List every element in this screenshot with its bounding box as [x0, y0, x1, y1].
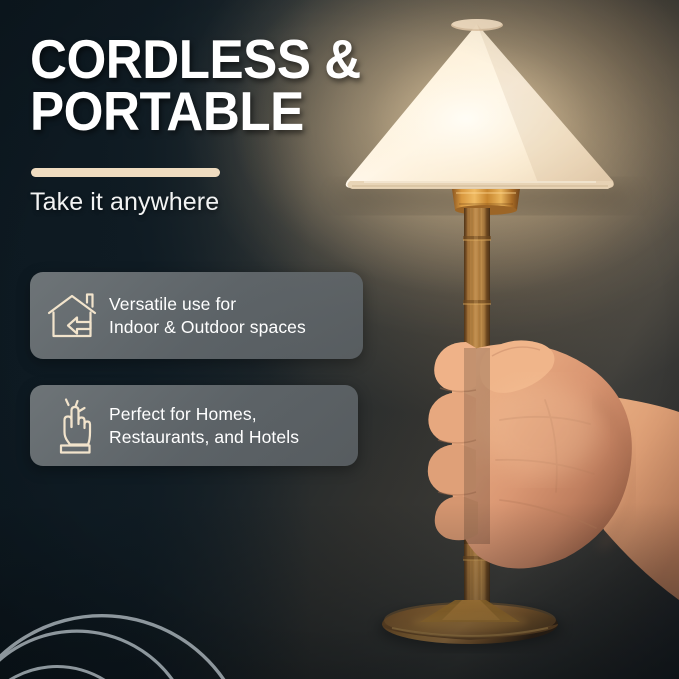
- feature-2-line-1: Perfect for Homes,: [109, 403, 299, 426]
- headline-line-2: PORTABLE: [30, 85, 383, 137]
- concentric-arcs-decoration: [0, 475, 276, 679]
- subheadline: Take it anywhere: [30, 188, 219, 217]
- product-marketing-image: CORDLESS & PORTABLE Take it anywhere Ver…: [0, 0, 679, 679]
- feature-1-line-1: Versatile use for: [109, 293, 306, 316]
- house-with-entering-arrow-icon: [44, 288, 100, 344]
- pointing-hand-tap-icon: [44, 398, 100, 454]
- divider-bar: [31, 168, 220, 177]
- feature-1-line-2: Indoor & Outdoor spaces: [109, 316, 306, 339]
- page-title: CORDLESS & PORTABLE: [30, 33, 383, 138]
- feature-card-indoor-outdoor-text: Versatile use for Indoor & Outdoor space…: [109, 293, 306, 339]
- feature-card-venues-text: Perfect for Homes, Restaurants, and Hote…: [109, 403, 299, 449]
- feature-2-line-2: Restaurants, and Hotels: [109, 426, 299, 449]
- feature-card-venues: Perfect for Homes, Restaurants, and Hote…: [30, 385, 358, 466]
- feature-card-indoor-outdoor: Versatile use for Indoor & Outdoor space…: [30, 272, 363, 359]
- headline-line-1: CORDLESS &: [30, 33, 383, 85]
